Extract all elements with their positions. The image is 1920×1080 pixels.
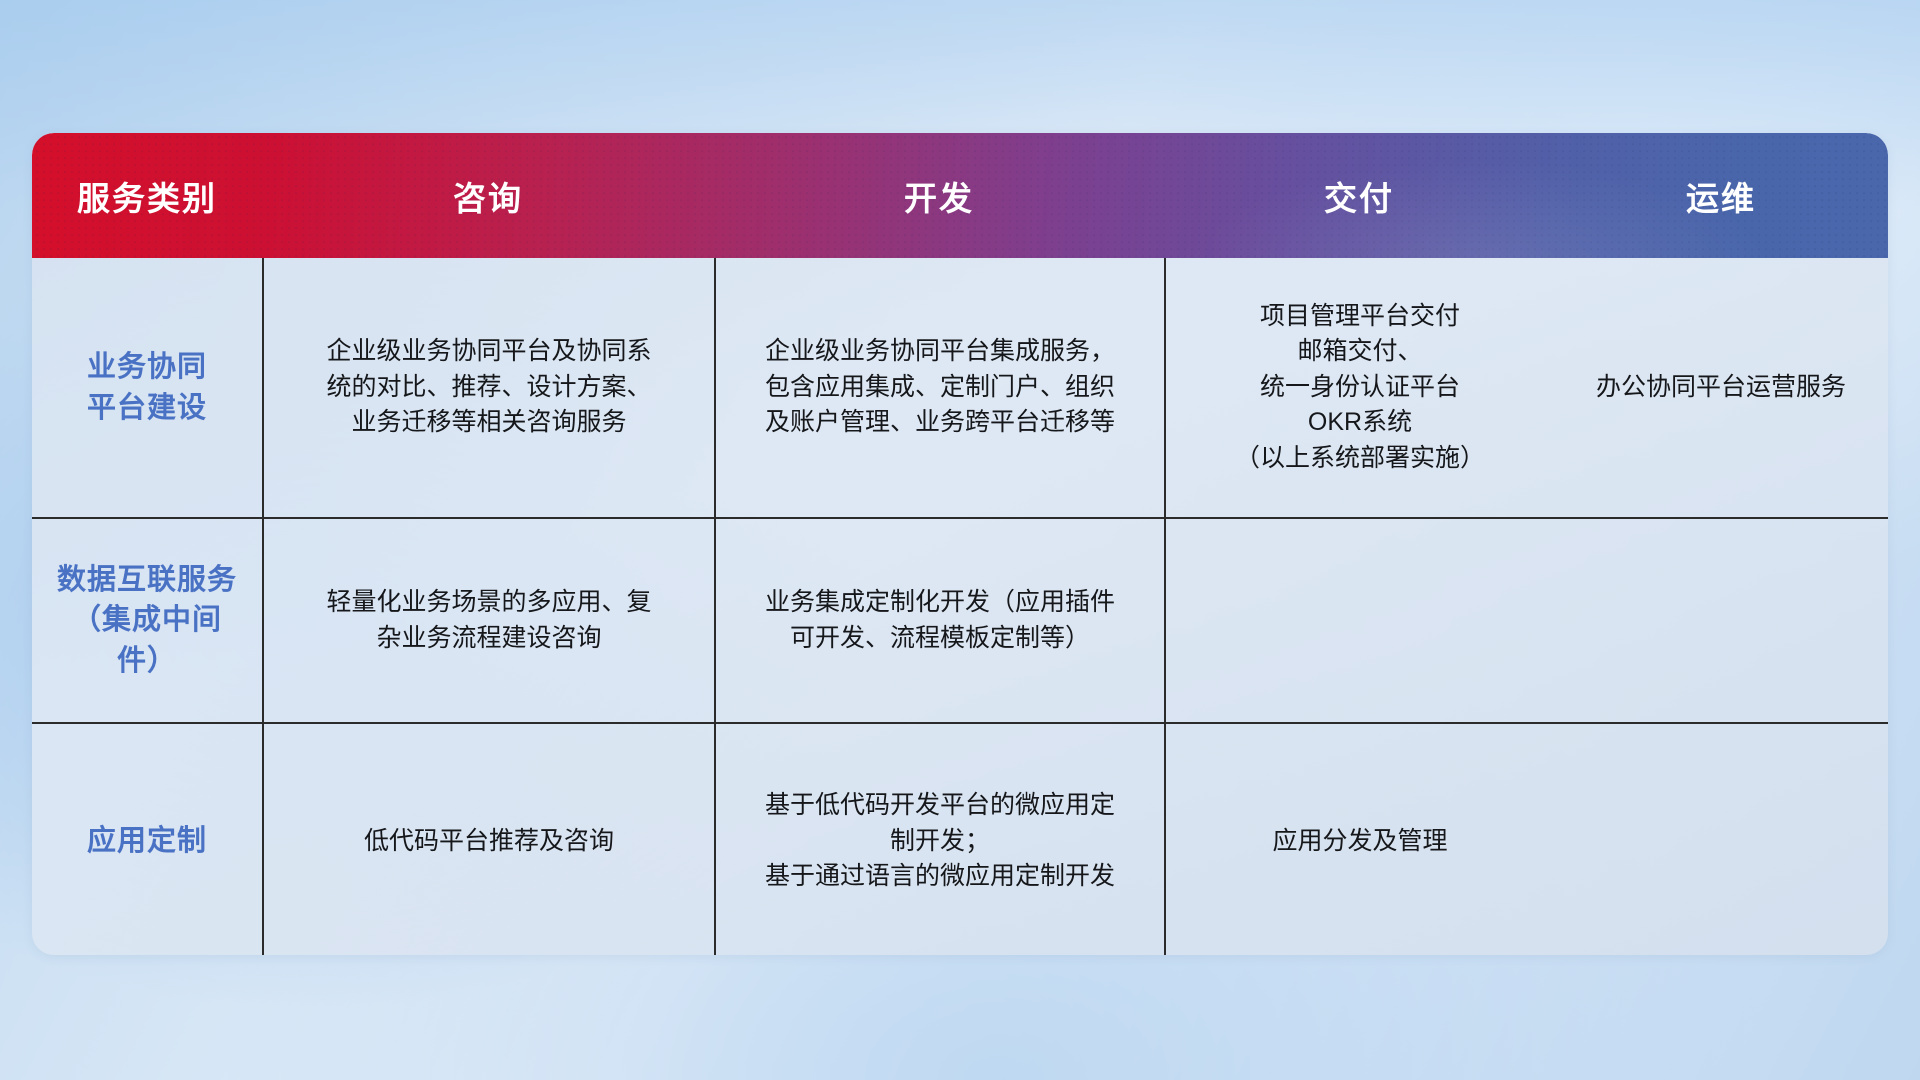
cell-consulting: 轻量化业务场景的多应用、复 杂业务流程建设咨询 [262, 519, 714, 722]
row-category-label: 数据互联服务 （集成中间件） [32, 519, 262, 722]
cell-consulting: 低代码平台推荐及咨询 [262, 724, 714, 955]
table-header-row: 服务类别 咨询 开发 交付 运维 [32, 133, 1888, 258]
service-category-table: 服务类别 咨询 开发 交付 运维 业务协同 平台建设 企业级业务协同平台及协同系… [32, 133, 1888, 955]
column-header-operations: 运维 [1554, 133, 1888, 258]
cell-development: 业务集成定制化开发（应用插件 可开发、流程模板定制等） [714, 519, 1164, 722]
table-body: 业务协同 平台建设 企业级业务协同平台及协同系 统的对比、推荐、设计方案、 业务… [32, 258, 1888, 955]
cell-operations: 办公协同平台运营服务 [1554, 258, 1888, 517]
table-row: 业务协同 平台建设 企业级业务协同平台及协同系 统的对比、推荐、设计方案、 业务… [32, 258, 1888, 519]
cell-development: 企业级业务协同平台集成服务， 包含应用集成、定制门户、组织 及账户管理、业务跨平… [714, 258, 1164, 517]
column-header-delivery: 交付 [1164, 133, 1554, 258]
row-category-label: 应用定制 [32, 724, 262, 955]
cell-operations [1554, 724, 1888, 955]
slide-canvas: 服务类别 咨询 开发 交付 运维 业务协同 平台建设 企业级业务协同平台及协同系… [0, 0, 1920, 1080]
table-row: 应用定制 低代码平台推荐及咨询 基于低代码开发平台的微应用定 制开发； 基于通过… [32, 724, 1888, 955]
cell-development: 基于低代码开发平台的微应用定 制开发； 基于通过语言的微应用定制开发 [714, 724, 1164, 955]
table-row: 数据互联服务 （集成中间件） 轻量化业务场景的多应用、复 杂业务流程建设咨询 业… [32, 519, 1888, 724]
cell-delivery: 应用分发及管理 [1164, 724, 1554, 955]
cell-operations [1554, 519, 1888, 722]
row-category-label: 业务协同 平台建设 [32, 258, 262, 517]
column-header-development: 开发 [714, 133, 1164, 258]
column-header-category: 服务类别 [32, 133, 262, 258]
column-header-consulting: 咨询 [262, 133, 714, 258]
cell-delivery [1164, 519, 1554, 722]
cell-consulting: 企业级业务协同平台及协同系 统的对比、推荐、设计方案、 业务迁移等相关咨询服务 [262, 258, 714, 517]
cell-delivery: 项目管理平台交付 邮箱交付、 统一身份认证平台 OKR系统 （以上系统部署实施） [1164, 258, 1554, 517]
